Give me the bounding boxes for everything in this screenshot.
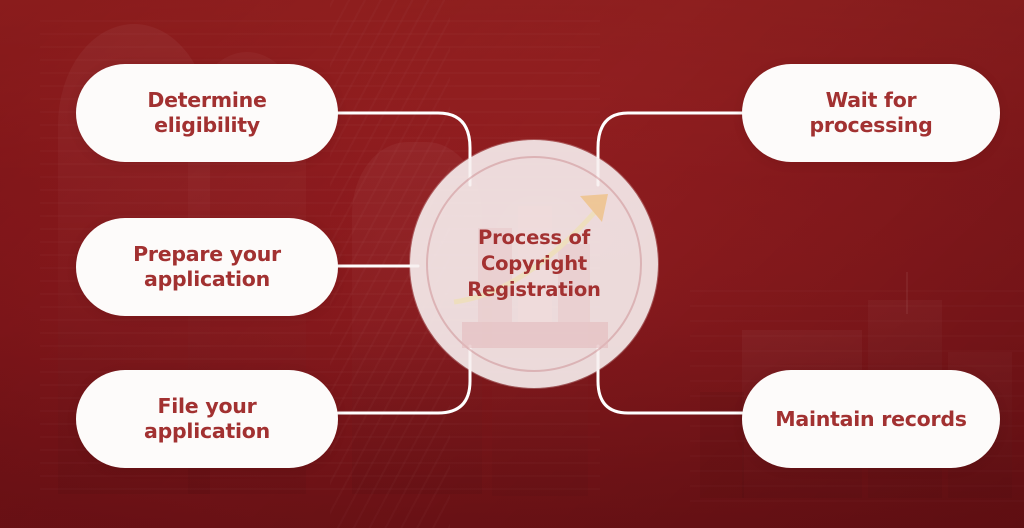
node-label: File your application [98,394,316,444]
node-label: Prepare your application [98,242,316,292]
hub-label: Process of Copyright Registration [449,225,618,303]
node-determine-eligibility[interactable]: Determine eligibility [76,64,338,162]
node-wait-for-processing[interactable]: Wait for processing [742,64,1000,162]
infographic-canvas: Process of Copyright Registration Determ… [0,0,1024,528]
hub-label-line: Copyright [467,251,600,277]
node-maintain-records[interactable]: Maintain records [742,370,1000,468]
center-hub[interactable]: Process of Copyright Registration [410,140,658,388]
node-label: Determine eligibility [98,88,316,138]
node-label: Wait for processing [764,88,978,138]
node-label: Maintain records [775,407,966,432]
hub-label-line: Registration [467,277,600,303]
hub-label-line: Process of [467,225,600,251]
node-file-your-application[interactable]: File your application [76,370,338,468]
node-prepare-your-application[interactable]: Prepare your application [76,218,338,316]
